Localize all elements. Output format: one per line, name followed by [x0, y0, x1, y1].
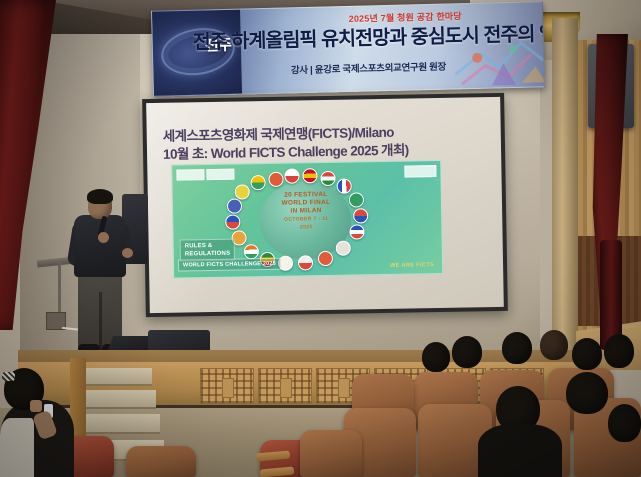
poster-logo-icon [176, 169, 204, 180]
flag-icon [268, 172, 283, 187]
we-are-ficts-emblem: WE ARE FICTS [390, 262, 434, 270]
flag-icon [250, 175, 265, 190]
projection-screen: 세계스포츠영화제 국제연맹(FICTS)/Milano 10월 초: World… [146, 97, 504, 313]
seat [126, 446, 196, 477]
audience-head [452, 336, 482, 368]
poster-logo-icon [206, 169, 234, 180]
audience-head [502, 332, 532, 364]
poster-footer-bar: WORLD FICTS CHALLENGE 2025 [178, 258, 281, 272]
audience-head [422, 342, 450, 372]
presenter-leg-gap [99, 292, 102, 350]
hair-clip-icon [2, 372, 15, 381]
flag-icon [225, 214, 240, 229]
audience-head [604, 334, 634, 368]
presenter-hand-left [98, 232, 109, 243]
stair-step [86, 414, 160, 434]
poster-logo-icon [404, 165, 436, 178]
poster-center-text: 20 FESTIVAL WORLD FINAL IN MILAN OCTOBER… [251, 190, 362, 232]
audience-clothing [0, 418, 34, 477]
wall-pillar [552, 18, 578, 364]
slide-poster-image: 20 FESTIVAL WORLD FINAL IN MILAN OCTOBER… [171, 160, 443, 279]
audience-head [540, 330, 568, 360]
flag-icon [336, 241, 351, 256]
poster-rules-line-2: REGULATIONS [185, 250, 231, 259]
flag-icon [320, 171, 335, 186]
audience-head [608, 404, 641, 442]
athletes-illustration-icon [451, 26, 545, 88]
event-banner: 전주 2025년 7월 청원 공감 한마당 전주 하계올림픽 유치전망과 중심도… [151, 1, 545, 97]
stair-step [80, 390, 156, 409]
banner-speaker-line: 강사 | 윤강로 국제스포츠외교연구원 원장 [253, 58, 483, 78]
audience-head [566, 372, 608, 414]
flag-icon [244, 244, 259, 259]
lecture-hall-photo: 전주 2025년 7월 청원 공감 한마당 전주 하계올림픽 유치전망과 중심도… [0, 0, 641, 477]
flag-icon [318, 251, 333, 266]
flag-icon [302, 168, 317, 183]
flag-icon [227, 198, 242, 213]
flag-icon [235, 184, 250, 199]
lattice-panel [258, 368, 312, 404]
flag-icon [298, 255, 313, 270]
lattice-panel [200, 368, 254, 404]
presenter-hand-right [122, 248, 133, 258]
slide-title-line-2: 10월 초: World FICTS Challenge 2025 개최) [163, 139, 409, 163]
presenter-hair [87, 189, 113, 204]
audience-neck [30, 400, 42, 412]
audience-shoulders [478, 424, 562, 477]
audience-head [572, 338, 602, 370]
seat [300, 430, 362, 477]
